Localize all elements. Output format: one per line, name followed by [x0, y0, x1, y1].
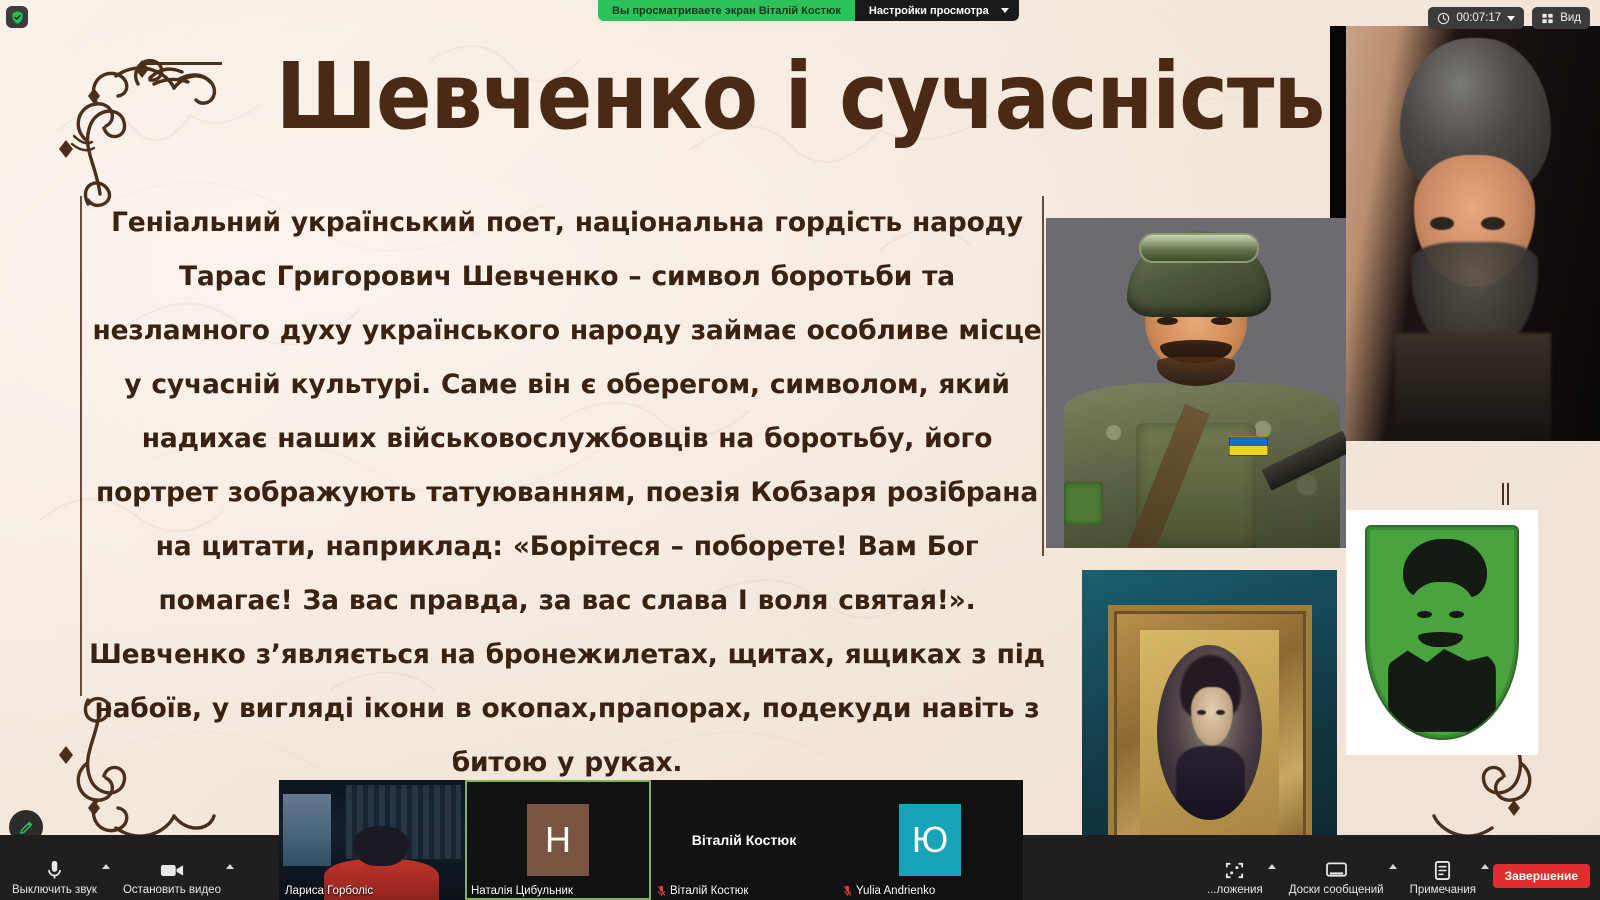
participant-center-name: Віталій Костюк [692, 832, 796, 848]
meeting-timer-button[interactable]: 00:07:17 [1428, 7, 1524, 29]
participant-tile-vitalii-kostiuk[interactable]: Віталій Костюк Віталій Костюк [651, 780, 837, 900]
small-bar-ornament [1501, 483, 1511, 505]
stop-video-label: Остановить видео [123, 884, 221, 896]
whiteboards-label: Доски сообщений [1289, 884, 1384, 896]
chevron-down-icon [1001, 8, 1009, 13]
control-group-right: ...ложения Доски сообщений [1203, 858, 1480, 896]
green-military-patch-with-shevchenko [1346, 510, 1538, 755]
top-right-controls: 00:07:17 Вид [1428, 7, 1590, 29]
view-options-label: Настройки просмотра [869, 5, 989, 17]
end-meeting-button[interactable]: Завершение [1493, 864, 1590, 888]
chevron-up-icon[interactable] [1481, 864, 1489, 869]
screen-share-status-bar: Вы просматриваете экран Віталій Костюк Н… [598, 0, 1019, 21]
apps-label: ...ложения [1207, 884, 1263, 896]
participant-name: Yulia Andrienko [843, 885, 935, 897]
apps-button[interactable]: ...ложения [1203, 858, 1267, 896]
tattoo-of-shevchenko-on-arm [1330, 26, 1600, 441]
avatar: Н [527, 804, 589, 876]
chevron-up-icon[interactable] [1389, 864, 1397, 869]
participant-name-label: Віталій Костюк [670, 885, 748, 897]
apps-icon [1224, 858, 1245, 882]
shevchenko-as-modern-soldier-illustration [1046, 218, 1346, 548]
microphone-icon [45, 858, 64, 882]
security-shield-badge[interactable] [6, 6, 28, 28]
body-rule-left [80, 196, 82, 696]
notes-button[interactable]: Примечания [1406, 858, 1480, 896]
chevron-up-icon[interactable] [102, 864, 110, 869]
view-layout-label: Вид [1560, 12, 1581, 24]
participant-name-label: Yulia Andrienko [856, 885, 935, 897]
participant-tile-larysa-horbolis[interactable]: Лариса Горболіс [279, 780, 465, 900]
control-group-left: Выключить звук Остановить видео [8, 858, 225, 896]
shield-check-icon [10, 10, 25, 25]
sharing-status-label: Вы просматриваете экран Віталій Костюк [598, 0, 855, 21]
microphone-muted-icon [657, 885, 666, 897]
avatar-initial-label: Н [545, 819, 571, 861]
chevron-up-icon[interactable] [226, 864, 234, 869]
whiteboards-button[interactable]: Доски сообщений [1285, 858, 1388, 896]
participant-name: Наталія Цибульник [471, 885, 573, 897]
participant-name: Лариса Горболіс [285, 885, 373, 897]
whiteboard-icon [1325, 858, 1348, 882]
shared-screen-slide: Шевченко і сучасність Геніальний українс… [0, 0, 1600, 900]
video-camera-icon [160, 858, 184, 882]
webcam-video [279, 780, 465, 900]
mute-audio-label: Выключить звук [12, 884, 97, 896]
notes-label: Примечания [1410, 884, 1476, 896]
clock-icon [1437, 12, 1450, 25]
notes-icon [1433, 858, 1452, 882]
avatar: Ю [899, 804, 961, 876]
participants-filmstrip: Лариса Горболіс Н Наталія Цибульник Віта… [279, 780, 1023, 900]
participant-tile-nataliia-tsybulnyk[interactable]: Н Наталія Цибульник [465, 780, 651, 900]
pencil-icon [18, 819, 35, 836]
chevron-down-icon [1507, 16, 1515, 21]
view-options-button[interactable]: Настройки просмотра [855, 0, 1019, 21]
grid-view-icon [1541, 12, 1554, 25]
avatar-initial-label: Ю [912, 819, 948, 861]
participant-tile-yulia-andrienko[interactable]: Ю Yulia Andrienko [837, 780, 1023, 900]
zoom-meeting-window: Шевченко і сучасність Геніальний українс… [0, 0, 1600, 900]
stop-video-button[interactable]: Остановить видео [119, 858, 225, 896]
framed-shevchenko-portrait-photo [1082, 570, 1337, 860]
view-layout-button[interactable]: Вид [1532, 7, 1590, 29]
meeting-timer-value: 00:07:17 [1456, 12, 1501, 24]
chevron-up-icon[interactable] [1268, 864, 1276, 869]
participant-name: Віталій Костюк [657, 885, 748, 897]
participant-name-label: Наталія Цибульник [471, 885, 573, 897]
slide-body-text: Геніальний український поет, національна… [88, 196, 1046, 790]
mute-audio-button[interactable]: Выключить звук [8, 858, 101, 896]
participant-name-label: Лариса Горболіс [285, 885, 373, 897]
microphone-muted-icon [843, 885, 852, 897]
